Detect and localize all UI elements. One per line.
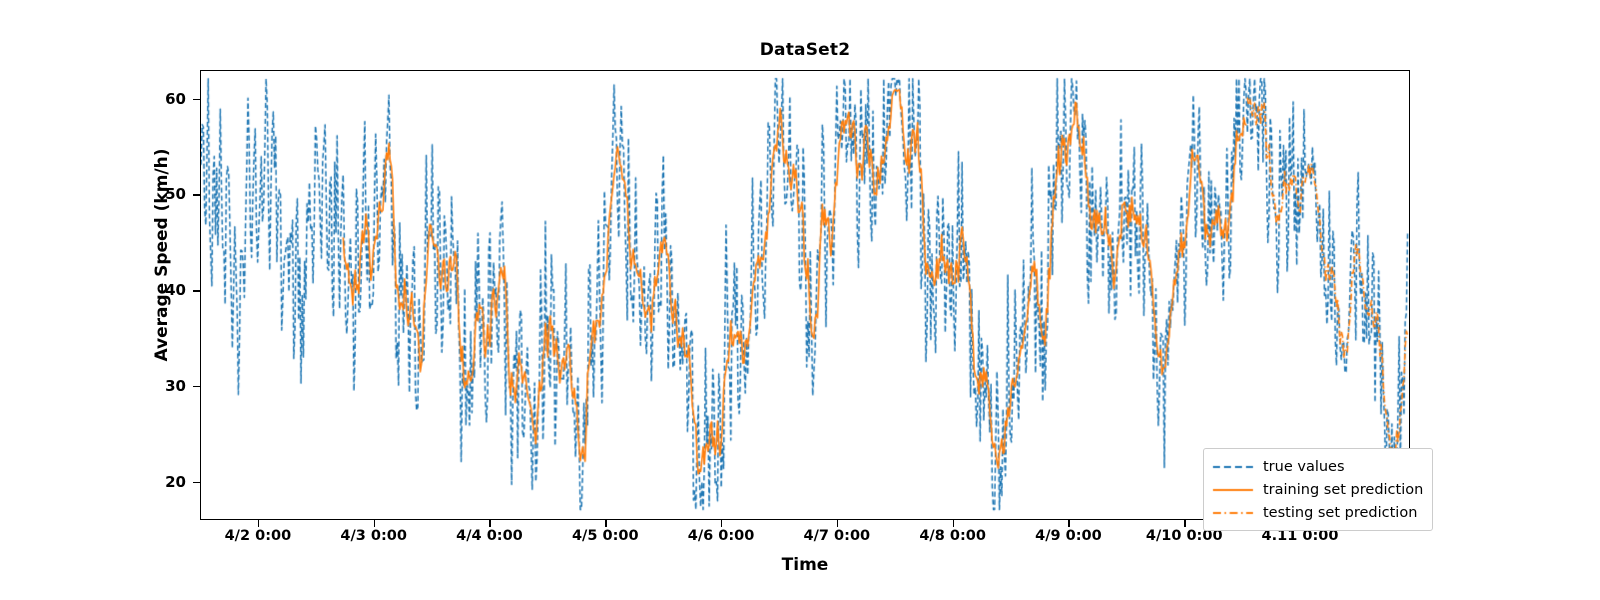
x-axis-tick-mark <box>1184 520 1185 527</box>
x-axis-tick-label: 4/2 0:00 <box>225 528 292 544</box>
x-axis-tick-label: 4/5 0:00 <box>572 528 639 544</box>
y-axis-tick-label: 60 <box>152 90 186 108</box>
y-axis-tick-label: 40 <box>152 281 186 299</box>
y-axis-tick-mark <box>193 482 200 483</box>
x-axis-tick-mark <box>258 520 259 527</box>
x-axis-label: Time <box>200 555 1410 575</box>
x-axis-tick-mark <box>721 520 722 527</box>
legend-item-label: testing set prediction <box>1263 505 1417 521</box>
x-axis-tick-label: 4/4 0:00 <box>456 528 523 544</box>
x-axis-tick-label: 4/9 0:00 <box>1035 528 1102 544</box>
legend-item[interactable]: testing set prediction <box>1212 501 1423 524</box>
legend-item[interactable]: training set prediction <box>1212 478 1423 501</box>
legend[interactable]: true valuestraining set predictiontestin… <box>1203 448 1433 531</box>
x-axis-tick-mark <box>489 520 490 527</box>
legend-item[interactable]: true values <box>1212 455 1423 478</box>
y-axis-tick-label: 30 <box>152 377 186 395</box>
x-axis-tick-mark <box>374 520 375 527</box>
legend-line-swatch-dashdot-icon <box>1212 506 1254 520</box>
x-axis-tick-label: 4/6 0:00 <box>688 528 755 544</box>
legend-line-swatch-dashed-icon <box>1212 460 1254 474</box>
legend-line-swatch-solid-icon <box>1212 483 1254 497</box>
y-axis-tick-label: 50 <box>152 185 186 203</box>
legend-item-label: true values <box>1263 459 1345 475</box>
page-title: DataSet2 <box>200 40 1410 60</box>
y-axis-tick-mark <box>193 99 200 100</box>
x-axis-tick-mark <box>953 520 954 527</box>
x-axis-tick-mark <box>837 520 838 527</box>
y-axis-tick-mark <box>193 386 200 387</box>
x-axis-tick-label: 4/3 0:00 <box>340 528 407 544</box>
y-axis-tick-mark <box>193 290 200 291</box>
matplotlib-figure: DataSet2 Average Speed (km/h) 2030405060… <box>0 0 1600 600</box>
x-axis-tick-mark <box>1068 520 1069 527</box>
y-axis-tick-label: 20 <box>152 473 186 491</box>
x-axis-tick-label: 4/8 0:00 <box>919 528 986 544</box>
x-axis-tick-mark <box>605 520 606 527</box>
legend-item-label: training set prediction <box>1263 482 1423 498</box>
x-axis-tick-label: 4/7 0:00 <box>804 528 871 544</box>
y-axis-tick-mark <box>193 194 200 195</box>
